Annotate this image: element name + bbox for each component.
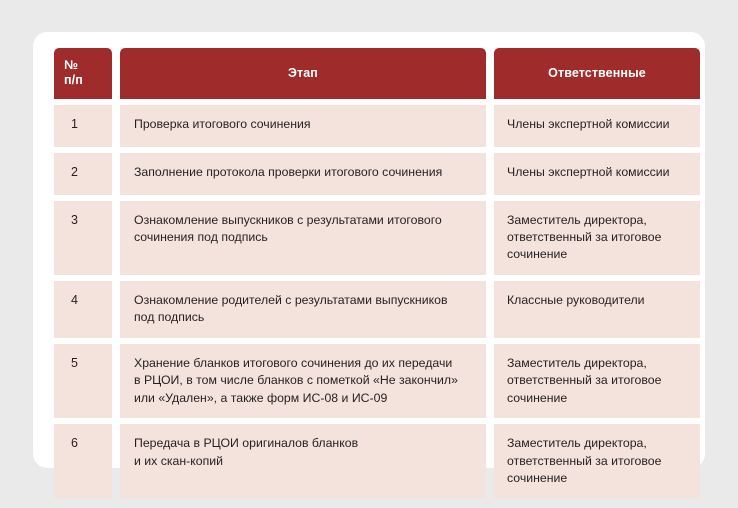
table-row: 3 Ознакомление выпускников с результатам… [54,201,700,275]
cell-responsible-line: сочинение [507,390,687,407]
cell-responsible-line: Заместитель директора, [507,212,687,229]
table-row: 2 Заполнение протокола проверки итоговог… [54,153,700,195]
page-root: № п/п Этап Ответственные 1 Проверка итог… [0,0,738,508]
cell-responsible: Члены экспертной комиссии [494,105,700,147]
cell-responsible: Заместитель директора, ответственный за … [494,201,700,275]
cell-responsible-line: Заместитель директора, [507,435,687,452]
cell-responsible: Заместитель директора, ответственный за … [494,424,700,498]
cell-stage-line: и их скан-копий [134,453,473,470]
cell-responsible: Классные руководители [494,281,700,338]
cell-number: 3 [54,201,112,275]
cell-stage: Заполнение протокола проверки итогового … [120,153,486,195]
cell-stage-line: Ознакомление выпускников с результатами … [134,212,473,229]
cell-stage-line: под подпись [134,309,473,326]
cell-stage-line: Заполнение протокола проверки итогового … [134,164,473,181]
table-header: № п/п Этап Ответственные [54,48,700,99]
cell-responsible: Заместитель директора, ответственный за … [494,344,700,418]
cell-number: 6 [54,424,112,498]
cell-responsible-line: Заместитель директора, [507,355,687,372]
column-header-number-line2: п/п [64,73,100,88]
cell-stage: Проверка итогового сочинения [120,105,486,147]
column-header-number-line1: № [64,58,100,73]
cell-stage-line: Проверка итогового сочинения [134,116,473,133]
table-card: № п/п Этап Ответственные 1 Проверка итог… [33,32,705,468]
cell-responsible-line: ответственный за итоговое [507,453,687,470]
cell-responsible-line: Классные руководители [507,292,687,309]
cell-number: 2 [54,153,112,195]
cell-responsible-line: сочинение [507,246,687,263]
cell-responsible-line: сочинение [507,470,687,487]
cell-stage-line: в РЦОИ, в том числе бланков с пометкой «… [134,372,473,389]
cell-stage: Передача в РЦОИ оригиналов бланков и их … [120,424,486,498]
table-row: 5 Хранение бланков итогового сочинения д… [54,344,700,418]
cell-stage: Ознакомление выпускников с результатами … [120,201,486,275]
schedule-table: № п/п Этап Ответственные 1 Проверка итог… [46,42,708,504]
cell-responsible-line: ответственный за итоговое [507,372,687,389]
column-header-number: № п/п [54,48,112,99]
cell-number: 1 [54,105,112,147]
cell-responsible: Члены экспертной комиссии [494,153,700,195]
cell-responsible-line: ответственный за итоговое [507,229,687,246]
cell-stage-line: Хранение бланков итогового сочинения до … [134,355,473,372]
cell-responsible-line: Члены экспертной комиссии [507,164,687,181]
cell-responsible-line: Члены экспертной комиссии [507,116,687,133]
cell-number: 4 [54,281,112,338]
cell-stage-line: Передача в РЦОИ оригиналов бланков [134,435,473,452]
cell-stage: Хранение бланков итогового сочинения до … [120,344,486,418]
table-row: 4 Ознакомление родителей с результатами … [54,281,700,338]
table-row: 6 Передача в РЦОИ оригиналов бланков и и… [54,424,700,498]
cell-stage-line: Ознакомление родителей с результатами вы… [134,292,473,309]
cell-stage: Ознакомление родителей с результатами вы… [120,281,486,338]
cell-stage-line: или «Удален», а также форм ИС-08 и ИС-09 [134,390,473,407]
table-header-row: № п/п Этап Ответственные [54,48,700,99]
table-row: 1 Проверка итогового сочинения Члены экс… [54,105,700,147]
cell-number: 5 [54,344,112,418]
column-header-stage: Этап [120,48,486,99]
table-body: 1 Проверка итогового сочинения Члены экс… [54,105,700,499]
column-header-responsible: Ответственные [494,48,700,99]
cell-stage-line: сочинения под подпись [134,229,473,246]
